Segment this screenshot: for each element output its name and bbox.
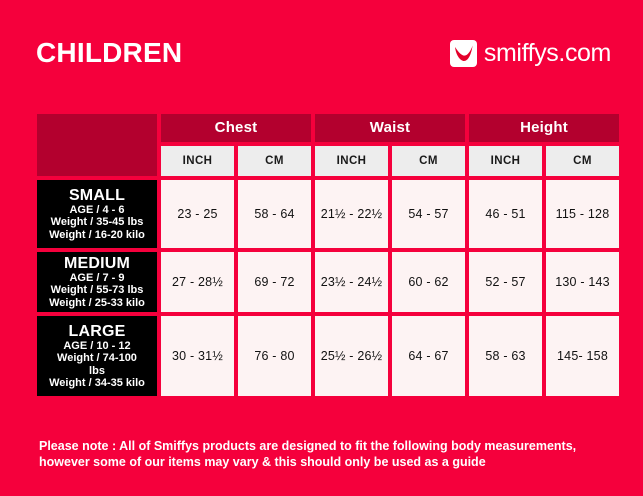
brand-name: smiffys.com: [484, 40, 611, 67]
unit-header-waist-inch: INCH: [315, 146, 388, 176]
cell-waist-inch: 23½ - 24½: [315, 252, 388, 312]
table-row: SMALL AGE / 4 - 6 Weight / 35-45 lbs Wei…: [37, 180, 619, 248]
smile-check-glyph: [453, 44, 474, 63]
size-chart-page: CHILDREN smiffys.com Chest Waist Height: [0, 0, 643, 496]
cell-height-inch: 46 - 51: [469, 180, 542, 248]
cell-waist-cm: 64 - 67: [392, 316, 465, 396]
size-meta-age: AGE / 4 - 6: [37, 204, 157, 217]
brand-logo: smiffys.com: [450, 40, 611, 67]
group-header-chest: Chest: [161, 114, 311, 142]
table-row: MEDIUM AGE / 7 - 9 Weight / 55-73 lbs We…: [37, 252, 619, 312]
unit-header-height-inch: INCH: [469, 146, 542, 176]
size-label-large: LARGE AGE / 10 - 12 Weight / 74-100 lbs …: [37, 316, 157, 396]
size-meta-weight-lbs: Weight / 55-73 lbs: [37, 284, 157, 297]
group-header-waist: Waist: [315, 114, 465, 142]
size-meta-weight-kilo: Weight / 16-20 kilo: [37, 229, 157, 242]
group-header-height: Height: [469, 114, 619, 142]
cell-chest-inch: 30 - 31½: [161, 316, 234, 396]
unit-header-height-cm: CM: [546, 146, 619, 176]
size-meta-weight-lbs-cont: lbs: [37, 365, 157, 378]
smile-check-icon: [450, 40, 477, 67]
cell-height-cm: 130 - 143: [546, 252, 619, 312]
cell-waist-inch: 25½ - 26½: [315, 316, 388, 396]
cell-waist-inch: 21½ - 22½: [315, 180, 388, 248]
cell-height-inch: 52 - 57: [469, 252, 542, 312]
table-corner-cell: [37, 114, 157, 176]
size-meta-age: AGE / 10 - 12: [37, 340, 157, 353]
cell-waist-cm: 60 - 62: [392, 252, 465, 312]
group-header-row: Chest Waist Height: [37, 114, 619, 142]
cell-chest-inch: 23 - 25: [161, 180, 234, 248]
size-meta-weight-lbs: Weight / 35-45 lbs: [37, 216, 157, 229]
chart-header: CHILDREN smiffys.com: [0, 0, 643, 100]
cell-height-cm: 115 - 128: [546, 180, 619, 248]
footer-note: Please note : All of Smiffys products ar…: [39, 438, 614, 470]
size-meta-age: AGE / 7 - 9: [37, 272, 157, 285]
size-label-medium: MEDIUM AGE / 7 - 9 Weight / 55-73 lbs We…: [37, 252, 157, 312]
size-name: SMALL: [37, 187, 157, 204]
size-meta-weight-kilo: Weight / 34-35 kilo: [37, 377, 157, 390]
page-title: CHILDREN: [36, 38, 182, 68]
cell-height-inch: 58 - 63: [469, 316, 542, 396]
cell-waist-cm: 54 - 57: [392, 180, 465, 248]
size-meta-weight-kilo: Weight / 25-33 kilo: [37, 297, 157, 310]
unit-header-chest-cm: CM: [238, 146, 311, 176]
footer-note-line-2: however some of our items may vary & thi…: [39, 454, 614, 470]
cell-chest-inch: 27 - 28½: [161, 252, 234, 312]
cell-chest-cm: 58 - 64: [238, 180, 311, 248]
cell-chest-cm: 69 - 72: [238, 252, 311, 312]
unit-header-chest-inch: INCH: [161, 146, 234, 176]
unit-header-waist-cm: CM: [392, 146, 465, 176]
cell-chest-cm: 76 - 80: [238, 316, 311, 396]
footer-note-line-1: Please note : All of Smiffys products ar…: [39, 438, 614, 454]
cell-height-cm: 145- 158: [546, 316, 619, 396]
size-meta-weight-lbs: Weight / 74-100: [37, 352, 157, 365]
size-label-small: SMALL AGE / 4 - 6 Weight / 35-45 lbs Wei…: [37, 180, 157, 248]
size-chart-table: Chest Waist Height INCH CM INCH CM INCH …: [33, 110, 623, 400]
size-name: MEDIUM: [37, 255, 157, 272]
table-row: LARGE AGE / 10 - 12 Weight / 74-100 lbs …: [37, 316, 619, 396]
size-name: LARGE: [37, 323, 157, 340]
